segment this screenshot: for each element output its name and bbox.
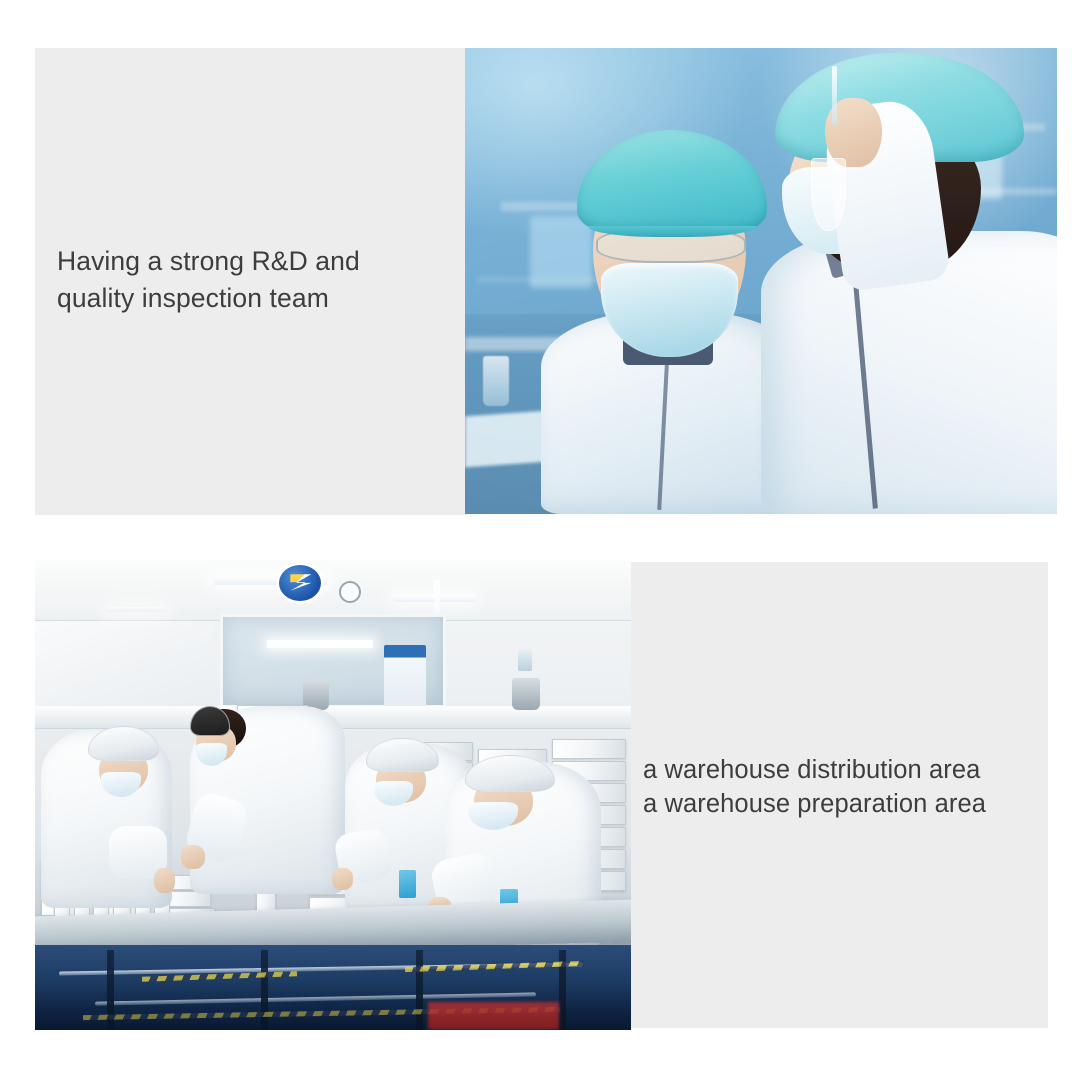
sample-vial (832, 66, 837, 125)
wall-clock-icon (339, 581, 361, 603)
bottom-caption: a warehouse distribution area a warehous… (643, 753, 1053, 821)
wall-notice-poster (384, 645, 426, 707)
table-leg (261, 950, 268, 1030)
warehouse-worker-2 (190, 706, 345, 894)
steel-container (512, 678, 540, 710)
lab-quality-photo (465, 48, 1057, 514)
warehouse-packing-photo (35, 560, 631, 1030)
top-caption: Having a strong R&D and quality inspecti… (57, 243, 457, 317)
blue-tool (399, 870, 417, 898)
window-interior-light (267, 640, 373, 648)
worker-hand (181, 845, 206, 869)
red-floor-mat (428, 1002, 559, 1030)
ceiling-light (107, 607, 167, 612)
warehouse-worker-1 (41, 729, 172, 908)
glass-beaker (483, 356, 509, 406)
company-logo-sign-icon (276, 562, 324, 604)
lab-worker-profile (725, 57, 1057, 514)
promo-image-canvas: Having a strong R&D and quality inspecti… (0, 0, 1080, 1080)
small-bottle (518, 649, 532, 671)
table-leg (416, 950, 423, 1030)
worker-hand (332, 868, 353, 890)
worker-hand (154, 868, 175, 893)
